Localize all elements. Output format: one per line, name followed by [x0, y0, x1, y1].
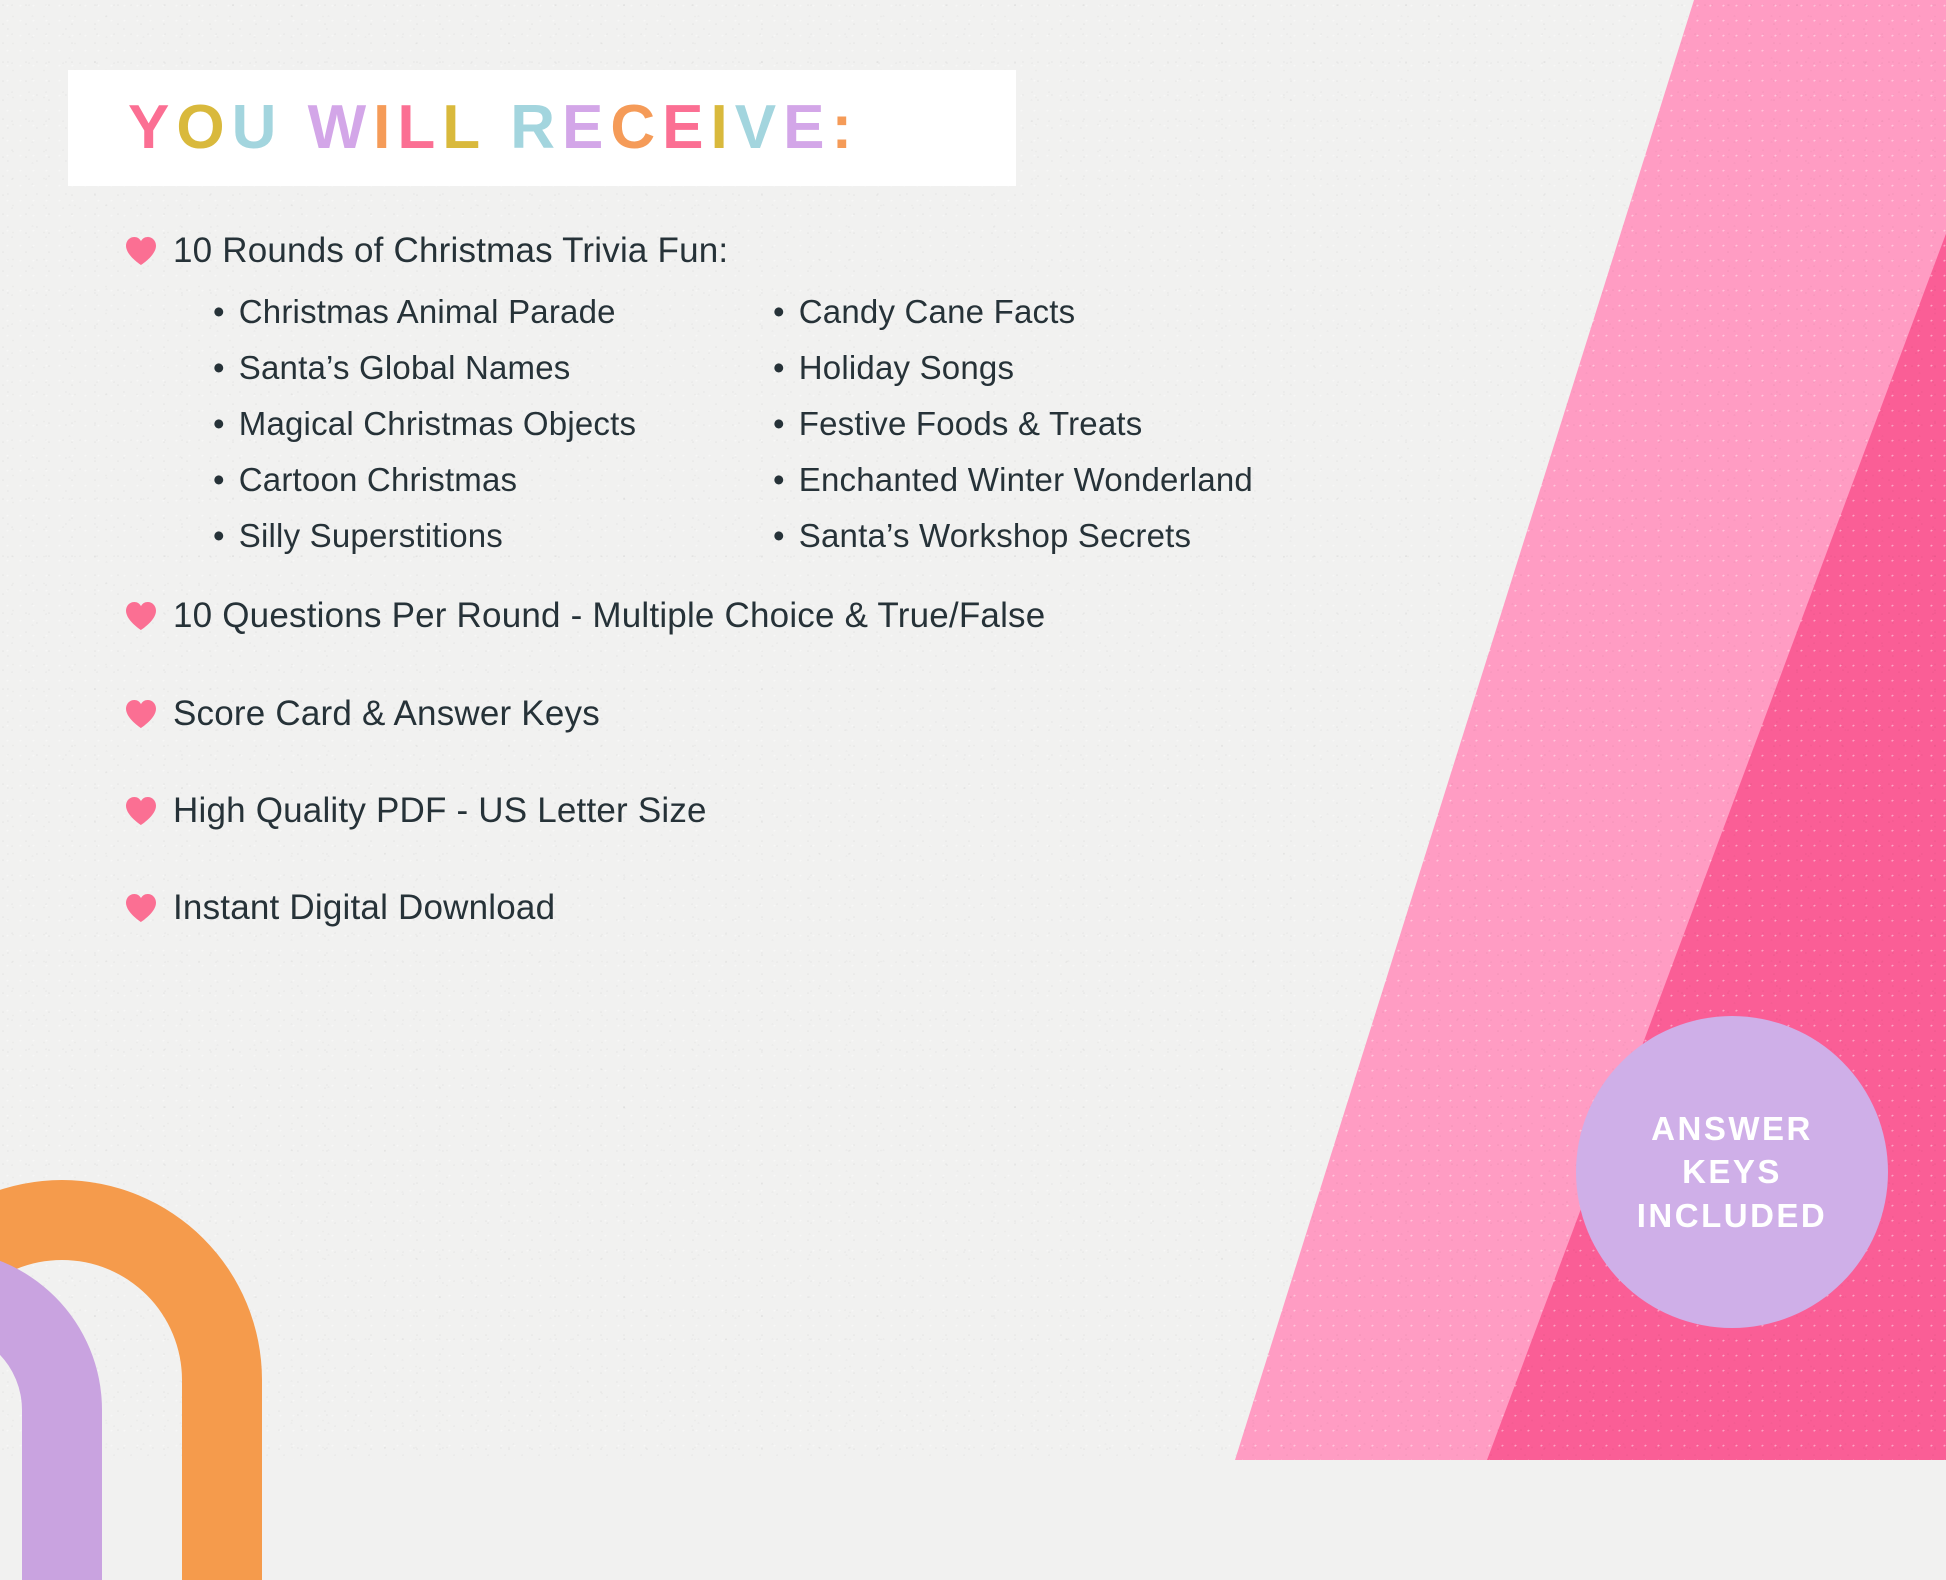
- heart-icon: [125, 601, 157, 631]
- round-item: •Magical Christmas Objects: [213, 405, 773, 443]
- rainbow-decoration: [0, 1080, 272, 1580]
- title-letter-7: L: [442, 93, 486, 162]
- round-label: Enchanted Winter Wonderland: [799, 461, 1253, 499]
- title-letter-8: [486, 93, 510, 162]
- feature-label: Score Card & Answer Keys: [173, 693, 600, 734]
- bullet-icon: •: [213, 295, 225, 328]
- badge-line-1: ANSWER: [1651, 1107, 1813, 1151]
- round-label: Candy Cane Facts: [799, 293, 1076, 331]
- round-label: Silly Superstitions: [239, 517, 503, 555]
- title-letter-0: Y: [128, 93, 176, 162]
- title-letter-15: E: [783, 93, 831, 162]
- page-title: YOU WILL RECEIVE:: [68, 97, 859, 159]
- heart-icon: [125, 236, 157, 266]
- round-label: Festive Foods & Treats: [799, 405, 1143, 443]
- round-item: •Cartoon Christmas: [213, 461, 773, 499]
- round-item: •Santa’s Workshop Secrets: [773, 517, 1413, 555]
- round-label: Santa’s Global Names: [239, 349, 571, 387]
- round-item: •Enchanted Winter Wonderland: [773, 461, 1413, 499]
- title-letter-10: E: [562, 93, 610, 162]
- rainbow-lavender-arc: [0, 1250, 102, 1580]
- bullet-icon: •: [773, 407, 785, 440]
- heart-icon: [125, 893, 157, 923]
- title-letter-5: I: [373, 93, 397, 162]
- bullet-icon: •: [773, 351, 785, 384]
- bullet-icon: •: [213, 351, 225, 384]
- bullet-icon: •: [213, 463, 225, 496]
- round-item: •Santa’s Global Names: [213, 349, 773, 387]
- bullet-icon: •: [213, 407, 225, 440]
- round-label: Christmas Animal Parade: [239, 293, 616, 331]
- feature-label: 10 Rounds of Christmas Trivia Fun:: [173, 230, 728, 271]
- round-label: Cartoon Christmas: [239, 461, 518, 499]
- feature-label: Instant Digital Download: [173, 887, 555, 928]
- title-letter-3: [283, 93, 307, 162]
- feature-item-scorecard: Score Card & Answer Keys: [125, 693, 1395, 734]
- round-item: •Christmas Animal Parade: [213, 293, 773, 331]
- heart-icon: [125, 796, 157, 826]
- round-label: Holiday Songs: [799, 349, 1014, 387]
- round-item: •Silly Superstitions: [213, 517, 773, 555]
- rounds-sub-list: •Christmas Animal Parade•Candy Cane Fact…: [213, 293, 1395, 555]
- round-item: •Candy Cane Facts: [773, 293, 1413, 331]
- round-label: Magical Christmas Objects: [239, 405, 636, 443]
- bullet-icon: •: [773, 519, 785, 552]
- feature-item-questions: 10 Questions Per Round - Multiple Choice…: [125, 595, 1395, 636]
- title-letter-1: O: [176, 93, 231, 162]
- answer-keys-badge: ANSWER KEYS INCLUDED: [1576, 1016, 1888, 1328]
- bullet-icon: •: [213, 519, 225, 552]
- bullet-icon: •: [773, 295, 785, 328]
- feature-list: 10 Rounds of Christmas Trivia Fun: •Chri…: [125, 230, 1395, 942]
- feature-item-rounds: 10 Rounds of Christmas Trivia Fun:: [125, 230, 1395, 271]
- round-item: •Festive Foods & Treats: [773, 405, 1413, 443]
- title-letter-13: I: [711, 93, 735, 162]
- title-letter-2: U: [232, 93, 284, 162]
- feature-item-download: Instant Digital Download: [125, 887, 1395, 928]
- feature-item-pdf: High Quality PDF - US Letter Size: [125, 790, 1395, 831]
- heart-icon: [125, 699, 157, 729]
- badge-line-3: INCLUDED: [1637, 1194, 1828, 1238]
- title-letter-6: L: [397, 93, 442, 162]
- title-letter-4: W: [308, 93, 374, 162]
- title-letter-14: V: [735, 93, 783, 162]
- title-letter-9: R: [510, 93, 562, 162]
- title-letter-11: C: [610, 93, 662, 162]
- round-label: Santa’s Workshop Secrets: [799, 517, 1191, 555]
- title-letter-16: :: [831, 93, 859, 162]
- feature-label: 10 Questions Per Round - Multiple Choice…: [173, 595, 1045, 636]
- round-item: •Holiday Songs: [773, 349, 1413, 387]
- badge-line-2: KEYS: [1682, 1150, 1782, 1194]
- bullet-icon: •: [773, 463, 785, 496]
- feature-label: High Quality PDF - US Letter Size: [173, 790, 707, 831]
- title-letter-12: E: [662, 93, 710, 162]
- title-banner: YOU WILL RECEIVE:: [68, 70, 1016, 186]
